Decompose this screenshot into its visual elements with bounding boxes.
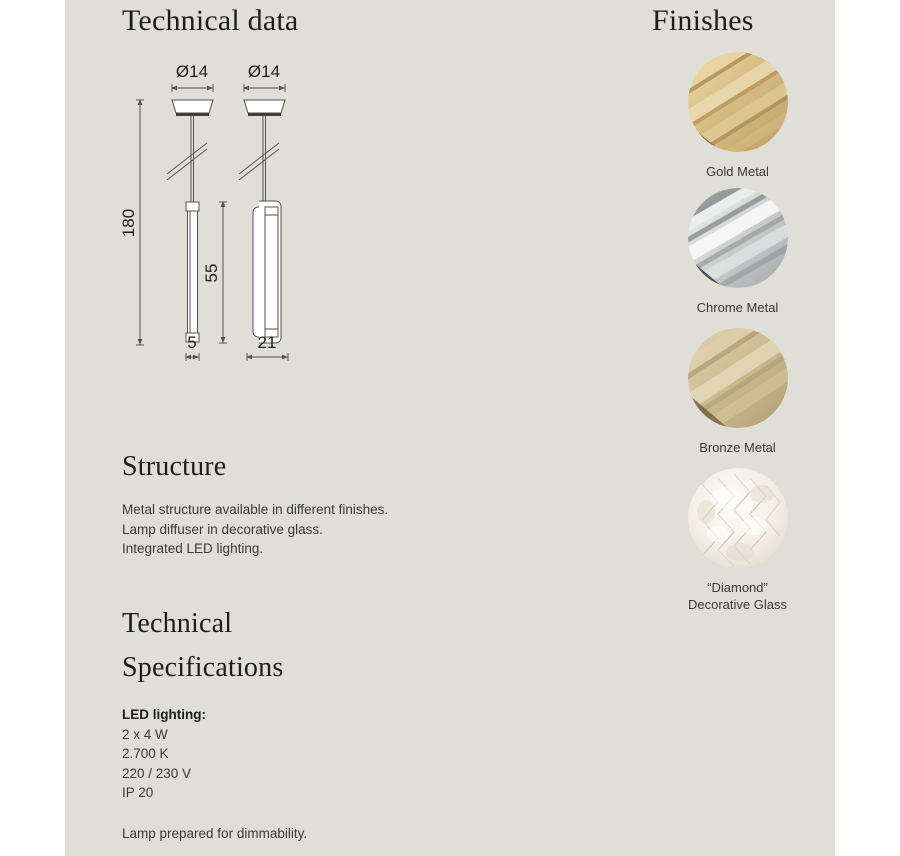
dimension-width-5: 5 xyxy=(187,333,196,352)
specifications-heading: LED lighting: xyxy=(122,705,542,725)
structure-line-3: Integrated LED lighting. xyxy=(122,539,542,559)
page-title-technical-data: Technical data xyxy=(122,2,298,40)
finish-label-diamond-decorative-glass: “Diamond” Decorative Glass xyxy=(640,579,835,613)
specification-power: 2 x 4 W xyxy=(122,725,542,745)
swatch-gold-metal xyxy=(688,52,788,152)
finish-label-line-2: Decorative Glass xyxy=(640,596,835,613)
datasheet-page: Technical data Finishes Structure Techni… xyxy=(0,0,900,856)
section-title-technical-specifications: Technical Specifications xyxy=(122,602,283,690)
specification-color-temperature: 2.700 K xyxy=(122,744,542,764)
specifications-note: Lamp prepared for dimmability. xyxy=(122,824,542,844)
technical-specifications-line-2: Specifications xyxy=(122,646,283,690)
finish-item-bronze-metal[interactable]: Bronze Metal xyxy=(640,328,835,456)
technical-drawing: Ø14 Ø14 180 55 5 21 xyxy=(120,55,450,365)
specifications-list: LED lighting: 2 x 4 W 2.700 K 220 / 230 … xyxy=(122,705,542,803)
swatch-chrome-metal xyxy=(688,188,788,288)
section-title-structure: Structure xyxy=(122,448,226,486)
finish-label-bronze-metal: Bronze Metal xyxy=(640,439,835,456)
finish-item-gold-metal[interactable]: Gold Metal xyxy=(640,52,835,180)
dimension-height-180: 180 xyxy=(120,209,138,237)
finish-label-line-1: “Diamond” xyxy=(640,579,835,596)
finishes-list: Gold Metal xyxy=(640,52,835,621)
finish-label-line-1: Gold Metal xyxy=(640,163,835,180)
section-title-finishes: Finishes xyxy=(652,2,754,40)
structure-line-1: Metal structure available in different f… xyxy=(122,500,542,520)
structure-description: Metal structure available in different f… xyxy=(122,500,542,559)
finish-label-line-1: Bronze Metal xyxy=(640,439,835,456)
finish-label-line-1: Chrome Metal xyxy=(640,299,835,316)
dimension-diameter-right: Ø14 xyxy=(248,62,280,81)
specification-voltage: 220 / 230 V xyxy=(122,764,542,784)
dimension-width-21: 21 xyxy=(258,333,277,352)
dimension-diameter-left: Ø14 xyxy=(176,62,208,81)
finish-item-chrome-metal[interactable]: Chrome Metal xyxy=(640,188,835,316)
finish-label-gold-metal: Gold Metal xyxy=(640,163,835,180)
finish-label-chrome-metal: Chrome Metal xyxy=(640,299,835,316)
structure-line-2: Lamp diffuser in decorative glass. xyxy=(122,520,542,540)
technical-specifications-line-1: Technical xyxy=(122,602,283,646)
swatch-bronze-metal xyxy=(688,328,788,428)
dimension-body-height-55: 55 xyxy=(202,264,221,283)
finish-item-diamond-decorative-glass[interactable]: “Diamond” Decorative Glass xyxy=(640,468,835,613)
specification-ip-rating: IP 20 xyxy=(122,783,542,803)
swatch-diamond-decorative-glass xyxy=(688,468,788,568)
